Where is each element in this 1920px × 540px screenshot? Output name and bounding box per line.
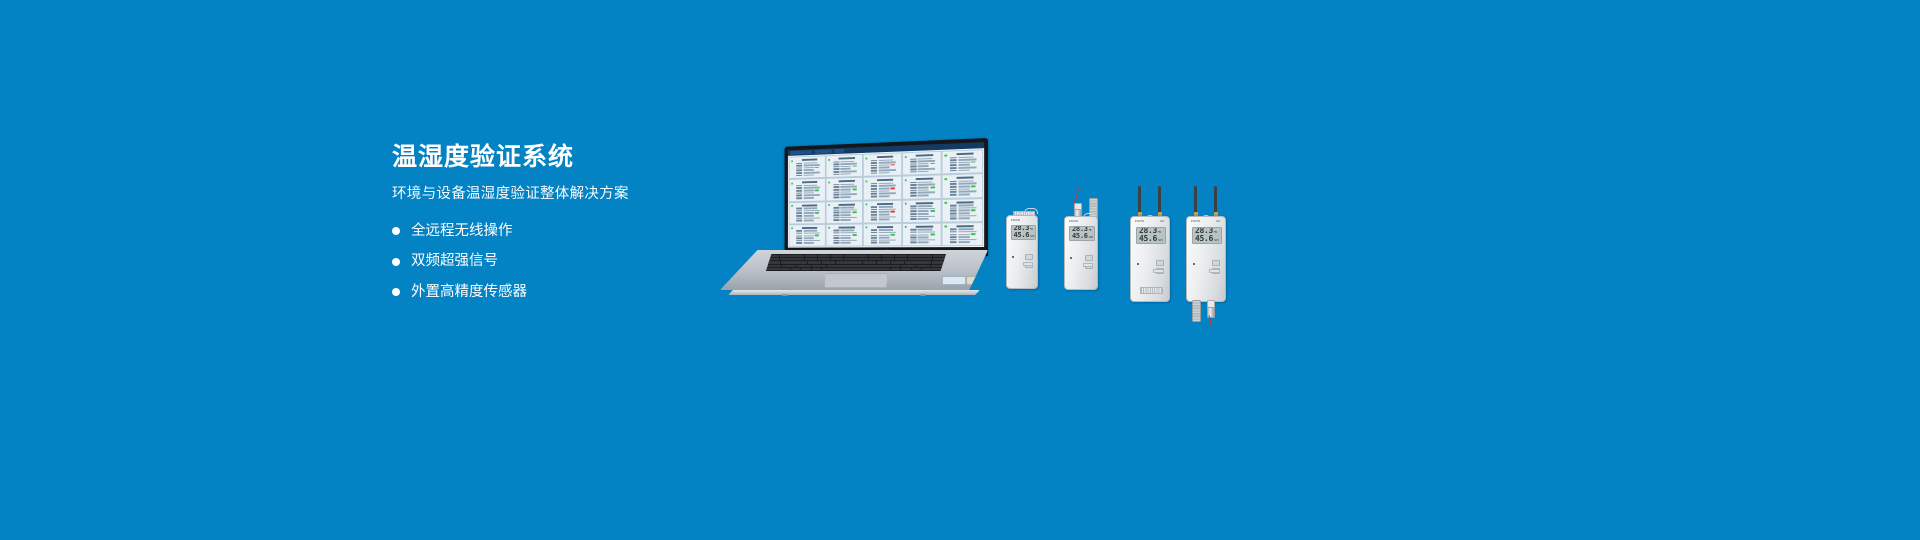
lcd-humidity-unit: %RH (1089, 237, 1093, 239)
table-row (871, 242, 899, 244)
monitor-card[interactable] (942, 198, 983, 223)
device-body: ENOW H8 28.3 ℃ 45.6 %RH (1130, 216, 1170, 302)
field-label (833, 169, 839, 171)
laptop-foot-left (782, 294, 788, 296)
field-value (958, 217, 969, 219)
keyboard-key[interactable] (801, 268, 811, 270)
field-label (950, 181, 957, 183)
keyboard-key[interactable] (933, 258, 945, 260)
status-led-icon (945, 226, 947, 228)
field-label (796, 192, 802, 194)
field-value (918, 171, 929, 173)
laptop-base (720, 250, 988, 298)
field-label (871, 209, 877, 211)
status-led-icon (828, 158, 830, 160)
laptop-spec-sticker (942, 276, 966, 285)
status-led-icon (791, 205, 793, 207)
field-label (833, 212, 839, 214)
field-label (950, 167, 957, 169)
keyboard-key[interactable] (822, 268, 890, 270)
monitor-card[interactable] (902, 222, 942, 246)
field-label (796, 212, 802, 214)
field-label (910, 218, 916, 220)
list-item: 双频超强信号 (392, 254, 722, 269)
device-label-tag (1209, 269, 1220, 273)
keyboard-key[interactable] (797, 265, 811, 267)
field-value (840, 173, 850, 175)
table-row (950, 231, 980, 233)
monitor-card[interactable] (825, 154, 863, 178)
keyboard-key[interactable] (792, 255, 804, 257)
monitor-card-title (839, 226, 855, 228)
keyboard-key[interactable] (863, 261, 876, 263)
keyboard-key[interactable] (831, 258, 843, 260)
keyboard-key[interactable] (780, 255, 792, 257)
field-label (796, 165, 802, 167)
field-label (950, 210, 957, 212)
field-label (871, 232, 877, 234)
keyboard-key[interactable] (912, 268, 922, 270)
field-label (796, 238, 802, 240)
monitor-card-grid (788, 148, 984, 248)
table-row (796, 242, 823, 244)
field-label (833, 240, 839, 242)
keyboard-key[interactable] (933, 255, 945, 257)
table-row (796, 240, 823, 242)
monitor-card-title (877, 226, 893, 228)
field-value (879, 237, 890, 239)
field-label (950, 229, 957, 231)
table-row (871, 232, 899, 234)
keyboard-key[interactable] (869, 255, 881, 257)
keyboard-key[interactable] (920, 258, 932, 260)
field-value (918, 213, 929, 215)
antenna-left-icon (1138, 186, 1141, 214)
keyboard-key[interactable] (856, 255, 868, 257)
keyboard-key[interactable] (922, 268, 945, 270)
field-label (871, 242, 877, 244)
monitor-card[interactable] (863, 176, 902, 200)
monitor-card[interactable] (825, 223, 863, 246)
keyboard-key[interactable] (901, 265, 915, 267)
device-button-up[interactable] (1025, 254, 1034, 260)
keyboard-key[interactable] (886, 265, 900, 267)
field-label (950, 239, 957, 241)
field-label (871, 185, 877, 187)
monitor-card[interactable] (902, 175, 942, 200)
status-badge (852, 211, 856, 213)
field-value (879, 172, 890, 174)
field-label (910, 237, 916, 239)
keyboard-key[interactable] (831, 255, 843, 257)
sensor-device-group: ENOW 28.3 ℃ 45.6 %RH (1000, 186, 1240, 316)
keyboard-key[interactable] (836, 261, 849, 263)
table-row (833, 232, 860, 234)
status-led-icon (945, 202, 947, 204)
status-badge (815, 235, 819, 237)
dashboard-tab-alarm (834, 149, 843, 153)
field-label (950, 215, 957, 217)
field-label (910, 182, 916, 184)
field-label (833, 235, 839, 237)
field-label (910, 184, 916, 186)
keyboard-key[interactable] (818, 255, 830, 257)
field-label (950, 186, 957, 188)
field-value (918, 205, 933, 207)
field-value (840, 230, 854, 232)
device-button-up[interactable] (1085, 255, 1094, 261)
field-value (879, 219, 890, 221)
field-value (803, 190, 813, 192)
keyboard-key[interactable] (905, 261, 918, 263)
field-label (796, 210, 802, 212)
monitor-card[interactable] (789, 224, 826, 247)
field-label (950, 157, 957, 159)
field-label (833, 184, 839, 186)
keyboard-key[interactable] (895, 255, 907, 257)
device-button-up[interactable] (1212, 260, 1221, 266)
status-badge (930, 210, 935, 212)
field-label (796, 187, 802, 189)
keyboard-row[interactable] (767, 258, 945, 260)
keyboard-key[interactable] (822, 261, 835, 263)
keyboard-key[interactable] (808, 261, 821, 263)
keyboard-key[interactable] (891, 261, 904, 263)
table-row (833, 240, 860, 242)
field-label (910, 239, 916, 241)
lcd-humidity-value: 45.6 (1072, 233, 1088, 240)
device-brand-label: ENOW (1069, 220, 1078, 223)
keyboard-key[interactable] (812, 265, 826, 267)
monitor-card-title (916, 154, 933, 157)
status-badge (891, 187, 895, 189)
table-row (910, 231, 939, 233)
monitor-card[interactable] (942, 173, 983, 198)
table-row (833, 173, 860, 175)
device-wireless-logger: ENOW 28.3 ℃ 45.6 %RH (1006, 212, 1038, 289)
status-led-icon (828, 181, 830, 183)
table-row (950, 228, 980, 230)
table-row (796, 237, 823, 239)
keyboard-key[interactable] (805, 255, 817, 257)
field-value (958, 239, 976, 241)
device-button-up[interactable] (1156, 260, 1165, 266)
keyboard-key[interactable] (818, 258, 830, 260)
keyboard-key[interactable] (931, 265, 945, 267)
field-label (950, 189, 957, 191)
keyboard-key[interactable] (856, 258, 868, 260)
field-value (803, 215, 813, 217)
keyboard-key[interactable] (871, 265, 885, 267)
laptop-front-lip (728, 290, 980, 295)
keyboard-key[interactable] (918, 261, 931, 263)
monitor-card-title (802, 204, 817, 206)
keyboard-key[interactable] (792, 258, 804, 260)
field-label (871, 165, 877, 167)
monitor-card[interactable] (789, 178, 826, 202)
field-label (833, 189, 839, 191)
field-value (918, 187, 929, 189)
field-label (796, 240, 802, 242)
laptop-foot-right (920, 294, 926, 296)
field-value (803, 174, 813, 176)
laptop-trackpad[interactable] (824, 273, 888, 288)
table-row (833, 235, 860, 237)
antenna-left-icon (1194, 186, 1197, 214)
device-vent-icon (1140, 287, 1163, 294)
status-badge (930, 163, 935, 165)
field-label (833, 230, 839, 232)
status-badge (815, 189, 819, 191)
monitor-card[interactable] (789, 201, 826, 224)
table-row (910, 229, 939, 231)
keyboard-key[interactable] (932, 261, 945, 263)
status-led-icon (791, 182, 793, 184)
status-led-icon (866, 180, 868, 182)
field-label (833, 196, 839, 198)
field-value (958, 207, 976, 209)
keyboard-key[interactable] (882, 255, 894, 257)
keyboard-key[interactable] (767, 255, 779, 257)
device-brand-label: ENOW (1011, 219, 1020, 222)
field-label (833, 232, 839, 234)
keyboard-key[interactable] (908, 258, 920, 260)
feature-label: 外置高精度传感器 (411, 285, 527, 300)
field-label (796, 220, 802, 222)
table-row (871, 218, 899, 220)
feature-list: 全远程无线操作 双频超强信号 外置高精度传感器 (392, 224, 722, 300)
field-value (958, 193, 969, 195)
feature-label: 全远程无线操作 (411, 224, 513, 239)
field-label (796, 185, 802, 187)
monitor-card-title (839, 180, 855, 182)
keyboard-key[interactable] (869, 258, 881, 260)
monitor-card[interactable] (863, 223, 902, 247)
device-body: ENOW 28.3 ℃ 45.6 %RH (1064, 216, 1098, 290)
field-label (871, 206, 877, 208)
status-badge (815, 212, 819, 214)
lcd-humidity-value: 45.6 (1139, 235, 1157, 243)
keyboard-key[interactable] (856, 265, 870, 267)
keyboard-key[interactable] (781, 261, 794, 263)
field-value (918, 231, 935, 233)
status-badge (891, 164, 895, 166)
table-row (796, 174, 823, 176)
monitor-card[interactable] (902, 199, 942, 223)
device-brand-label: ENOW (1191, 220, 1200, 223)
keyboard-key[interactable] (920, 255, 932, 257)
keyboard-key[interactable] (844, 255, 856, 257)
status-led-icon (866, 227, 868, 229)
monitor-card-title (839, 203, 855, 205)
monitor-card[interactable] (825, 177, 863, 201)
feature-label: 双频超强信号 (411, 254, 498, 269)
field-label (871, 167, 877, 169)
monitor-card[interactable] (902, 151, 942, 176)
keyboard-key[interactable] (901, 268, 911, 270)
device-indicator-led-icon (1012, 256, 1014, 258)
keyboard-key[interactable] (767, 261, 780, 263)
field-value (803, 220, 813, 222)
keyboard-key[interactable] (882, 258, 894, 260)
field-label (950, 234, 957, 236)
keyboard-key[interactable] (767, 258, 779, 260)
field-label (871, 234, 877, 236)
monitor-card[interactable] (789, 155, 826, 179)
page-title: 温湿度验证系统 (392, 142, 722, 172)
keyboard-key[interactable] (849, 261, 862, 263)
field-label (910, 232, 916, 234)
field-label (950, 191, 957, 193)
field-value (958, 236, 969, 238)
field-value (879, 234, 890, 236)
bullet-dot-icon (392, 288, 400, 296)
field-value (918, 210, 929, 212)
field-value (803, 232, 819, 234)
table-row (833, 196, 860, 198)
device-indicator-led-icon (1070, 257, 1072, 259)
probe-mesh-filter-icon (1192, 300, 1201, 322)
status-led-icon (791, 227, 793, 229)
field-label (910, 187, 916, 189)
field-label (910, 192, 916, 194)
table-row (871, 229, 899, 231)
field-value (803, 238, 813, 240)
status-badge (891, 234, 895, 236)
keyboard-key[interactable] (908, 255, 920, 257)
table-row (950, 239, 980, 241)
antenna-right-icon (1158, 186, 1161, 214)
table-row (871, 234, 899, 236)
keyboard-key[interactable] (791, 268, 801, 270)
monitor-card[interactable] (863, 199, 902, 223)
banner-stage: 温湿度验证系统 环境与设备温湿度验证整体解决方案 全远程无线操作 双频超强信号 … (0, 0, 1920, 540)
field-label (871, 216, 877, 218)
keyboard-row[interactable] (767, 261, 945, 263)
field-label (833, 209, 839, 211)
keyboard-key[interactable] (782, 265, 796, 267)
table-row (950, 169, 980, 172)
field-label (871, 162, 877, 164)
lcd-humidity-unit: %RH (1214, 240, 1218, 242)
table-row (910, 242, 939, 244)
monitor-card[interactable] (825, 200, 863, 224)
field-value (958, 204, 973, 206)
lcd-humidity-row: 45.6 %RH (1072, 233, 1092, 240)
field-label (950, 170, 957, 172)
field-label (950, 183, 957, 185)
status-led-icon (866, 157, 868, 159)
dashboard-tab-realtime (815, 149, 832, 153)
field-value (958, 231, 976, 233)
laptop-deck (720, 250, 988, 290)
keyboard-key[interactable] (916, 265, 930, 267)
field-value (840, 240, 856, 242)
device-lcd-display: 28.3 ℃ 45.6 %RH (1011, 225, 1036, 240)
keyboard-key[interactable] (841, 265, 855, 267)
monitor-card-title (957, 177, 974, 179)
keyboard-key[interactable] (767, 265, 781, 267)
field-value (840, 212, 850, 214)
monitor-card[interactable] (863, 152, 902, 177)
field-label (950, 162, 957, 164)
field-label (910, 208, 916, 210)
field-value (840, 235, 850, 237)
field-label (833, 214, 839, 216)
keyboard-key[interactable] (891, 268, 901, 270)
status-led-icon (945, 154, 947, 156)
keyboard-key[interactable] (767, 268, 790, 270)
field-label (796, 235, 802, 237)
field-value (879, 239, 896, 241)
field-label (871, 188, 877, 190)
table-row (871, 237, 899, 239)
list-item: 全远程无线操作 (392, 224, 722, 239)
field-value (958, 169, 969, 171)
field-label (910, 190, 916, 192)
field-label (871, 229, 877, 231)
status-badge (971, 161, 976, 163)
monitor-card[interactable] (942, 222, 983, 246)
table-row (796, 235, 823, 237)
field-value (958, 186, 969, 188)
field-label (871, 219, 877, 221)
field-label (833, 219, 839, 221)
keyboard-row[interactable] (767, 265, 945, 267)
monitor-card-title (916, 225, 933, 227)
keyboard-key[interactable] (794, 261, 807, 263)
keyboard-key[interactable] (827, 265, 841, 267)
keyboard-key[interactable] (812, 268, 822, 270)
field-value (958, 228, 973, 230)
field-label (950, 218, 957, 220)
monitor-card[interactable] (942, 149, 983, 174)
status-led-icon (828, 204, 830, 206)
field-value (840, 232, 856, 234)
table-row (910, 237, 939, 239)
monitor-card-title (877, 202, 893, 204)
status-badge (852, 165, 856, 167)
field-value (918, 194, 929, 196)
device-model-label: H8 (1216, 220, 1220, 223)
field-label (871, 195, 877, 197)
status-badge (815, 167, 819, 169)
device-model-label: H8 (1160, 220, 1164, 223)
keyboard-key[interactable] (805, 258, 817, 260)
keyboard-key[interactable] (895, 258, 907, 260)
keyboard-row[interactable] (767, 255, 945, 257)
table-row (833, 242, 860, 244)
table-row (796, 220, 823, 222)
keyboard-key[interactable] (780, 258, 792, 260)
table-row (950, 217, 980, 219)
field-label (910, 166, 916, 168)
lcd-humidity-value: 45.6 (1195, 235, 1213, 243)
keyboard-row[interactable] (767, 268, 945, 270)
field-value (958, 188, 969, 190)
keyboard-key[interactable] (844, 258, 856, 260)
device-body: ENOW H8 28.3 ℃ 45.6 %RH (1186, 216, 1226, 302)
table-row (910, 194, 939, 196)
laptop-keyboard[interactable] (766, 254, 946, 271)
field-label (833, 194, 839, 196)
keyboard-key[interactable] (877, 261, 890, 263)
field-value (879, 206, 893, 208)
field-label (871, 172, 877, 174)
page-subtitle: 环境与设备温湿度验证整体解决方案 (392, 185, 722, 204)
monitor-card-title (957, 201, 974, 203)
status-badge (930, 186, 935, 188)
